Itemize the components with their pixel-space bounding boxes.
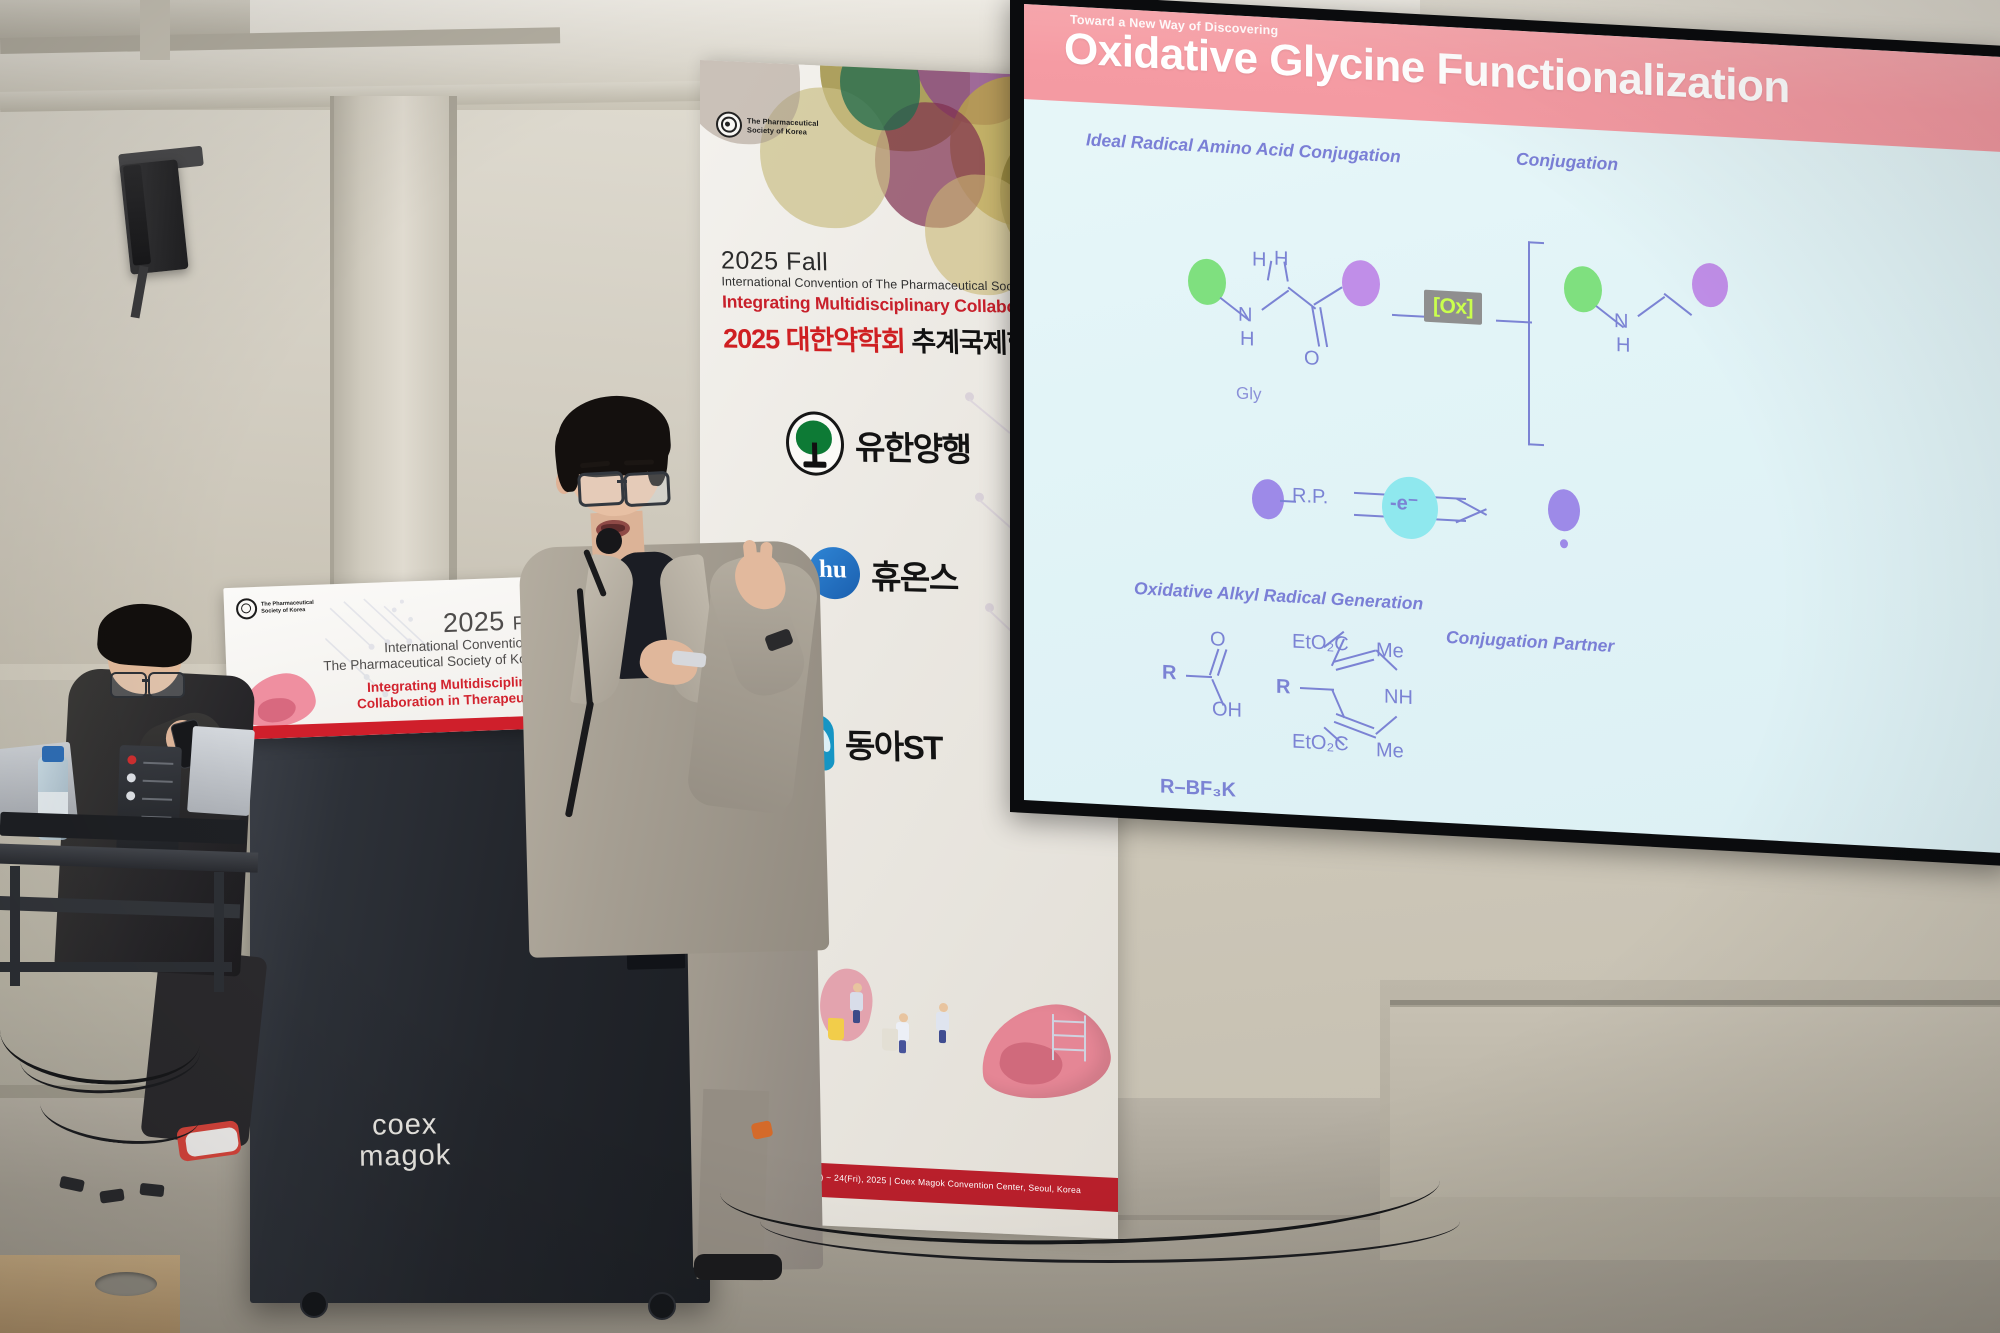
hantzsch-bottom-right: Me bbox=[1376, 739, 1404, 764]
atom-nh: H bbox=[1240, 328, 1254, 352]
psk-seal-icon bbox=[236, 598, 258, 620]
slide-section-conjugation: Conjugation bbox=[1516, 149, 1618, 176]
bond bbox=[1637, 296, 1665, 317]
yuhan-tree-logo-icon bbox=[785, 411, 844, 476]
psk-logo: The Pharmaceutical Society of Korea bbox=[716, 111, 819, 141]
carboxylic-o: O bbox=[1210, 628, 1226, 652]
banner-korean-org: 대한약학회 bbox=[785, 325, 905, 357]
speaker-eyebrow bbox=[624, 459, 654, 465]
bond bbox=[1186, 675, 1212, 679]
bond-double bbox=[1311, 307, 1320, 347]
hantzsch-top-right: Me bbox=[1376, 639, 1404, 664]
psk-seal-icon bbox=[716, 111, 742, 138]
podium-caster bbox=[300, 1290, 328, 1318]
photo-scene: The Pharmaceutical Society of Korea 2025… bbox=[0, 0, 2000, 1333]
sponsor-name: 휴온스 bbox=[871, 550, 959, 600]
radical-dot bbox=[1560, 539, 1568, 548]
sponsor-name: 유한양행 bbox=[855, 421, 971, 472]
oxidant-box: [Ox] bbox=[1424, 290, 1482, 325]
floor-vent bbox=[95, 1272, 157, 1296]
atom-h1: H bbox=[1252, 248, 1266, 272]
violet-node-radical bbox=[1548, 488, 1580, 532]
ring-bond-double bbox=[1336, 713, 1375, 730]
atom-n2h: H bbox=[1616, 334, 1630, 358]
venue-brand-line2: magok bbox=[330, 1140, 481, 1174]
podium-sign-year: 2025 bbox=[442, 606, 505, 638]
label-electron: -e⁻ bbox=[1390, 490, 1418, 517]
label-rp: R.P. bbox=[1292, 485, 1328, 510]
bond bbox=[1663, 293, 1692, 316]
banner-year: 2025 bbox=[721, 246, 779, 275]
bond bbox=[1313, 286, 1343, 306]
sponsor-name: 동아ST bbox=[845, 719, 943, 769]
attendee-glasses-lens-right bbox=[148, 672, 185, 698]
cable-connector bbox=[139, 1183, 164, 1197]
hantzsch-r-group: R bbox=[1276, 676, 1290, 700]
reaction-arrow-line bbox=[1392, 314, 1426, 318]
speaker-glasses-lens-right bbox=[623, 471, 671, 507]
stage-cable-run bbox=[760, 1180, 1460, 1263]
bond bbox=[1261, 290, 1289, 311]
speaker-shoe bbox=[694, 1254, 782, 1280]
reaction-arrow-line bbox=[1496, 320, 1532, 324]
projection-screen: Toward a New Way of Discovering Oxidativ… bbox=[1024, 4, 2000, 853]
laptop-screen-second[interactable] bbox=[187, 726, 255, 816]
atom-o: O bbox=[1304, 347, 1320, 371]
podium-psk-logo: The Pharmaceutical Society of Korea bbox=[236, 596, 315, 620]
carboxylic-oh: OH bbox=[1212, 698, 1242, 723]
attendee-glasses-lens-left bbox=[110, 672, 147, 698]
trifluoroborate: R–BF₃K bbox=[1160, 775, 1236, 802]
attendee-glasses-bridge bbox=[142, 679, 150, 682]
desk-leg bbox=[214, 872, 224, 992]
slide-section-oxidative-alkyl: Oxidative Alkyl Radical Generation bbox=[1134, 578, 1423, 615]
podium-sign: The Pharmaceutical Society of Korea 2025… bbox=[223, 576, 562, 740]
purple-node-left bbox=[1342, 259, 1380, 307]
desk-crossbar bbox=[0, 962, 232, 972]
podium-psk-line2: Society of Korea bbox=[261, 606, 314, 615]
carboxylic-r: R bbox=[1162, 661, 1176, 685]
right-wall-panel bbox=[1390, 1005, 2000, 1197]
speaker-glasses-bridge bbox=[617, 480, 627, 483]
speaker-glasses-lens-left bbox=[577, 471, 625, 507]
slide-section-conjugation-partner: Conjugation Partner bbox=[1446, 627, 1614, 657]
sponsor-yuhan: 유한양행 bbox=[785, 411, 971, 480]
podium-caster bbox=[648, 1292, 676, 1320]
arrow-head bbox=[1455, 508, 1487, 523]
ceiling-beam bbox=[140, 0, 170, 60]
venue-brand-line1: coex bbox=[329, 1109, 480, 1143]
hantzsch-nh: NH bbox=[1384, 685, 1413, 710]
banner-season: Fall bbox=[786, 248, 829, 277]
purple-node-right bbox=[1692, 262, 1728, 308]
bond bbox=[1300, 687, 1334, 691]
banner-korean-year: 2025 bbox=[723, 323, 780, 354]
bond-double bbox=[1319, 307, 1328, 347]
venue-brand-logo: coex magok bbox=[329, 1109, 480, 1174]
bottle-cap bbox=[42, 746, 64, 762]
slide-section-ideal-radical: Ideal Radical Amino Acid Conjugation bbox=[1086, 129, 1401, 167]
label-gly: Gly bbox=[1236, 383, 1262, 404]
atom-n2: N bbox=[1614, 310, 1628, 334]
ring-bond bbox=[1375, 716, 1397, 735]
atom-n: N bbox=[1238, 304, 1252, 328]
bracket-left bbox=[1528, 241, 1544, 446]
sponsor-huons: 휴온스 bbox=[807, 546, 958, 602]
bond bbox=[1267, 261, 1273, 281]
floor-wood-strip bbox=[0, 1255, 180, 1333]
speaker-finger bbox=[759, 542, 773, 569]
microphone-icon bbox=[596, 528, 622, 554]
